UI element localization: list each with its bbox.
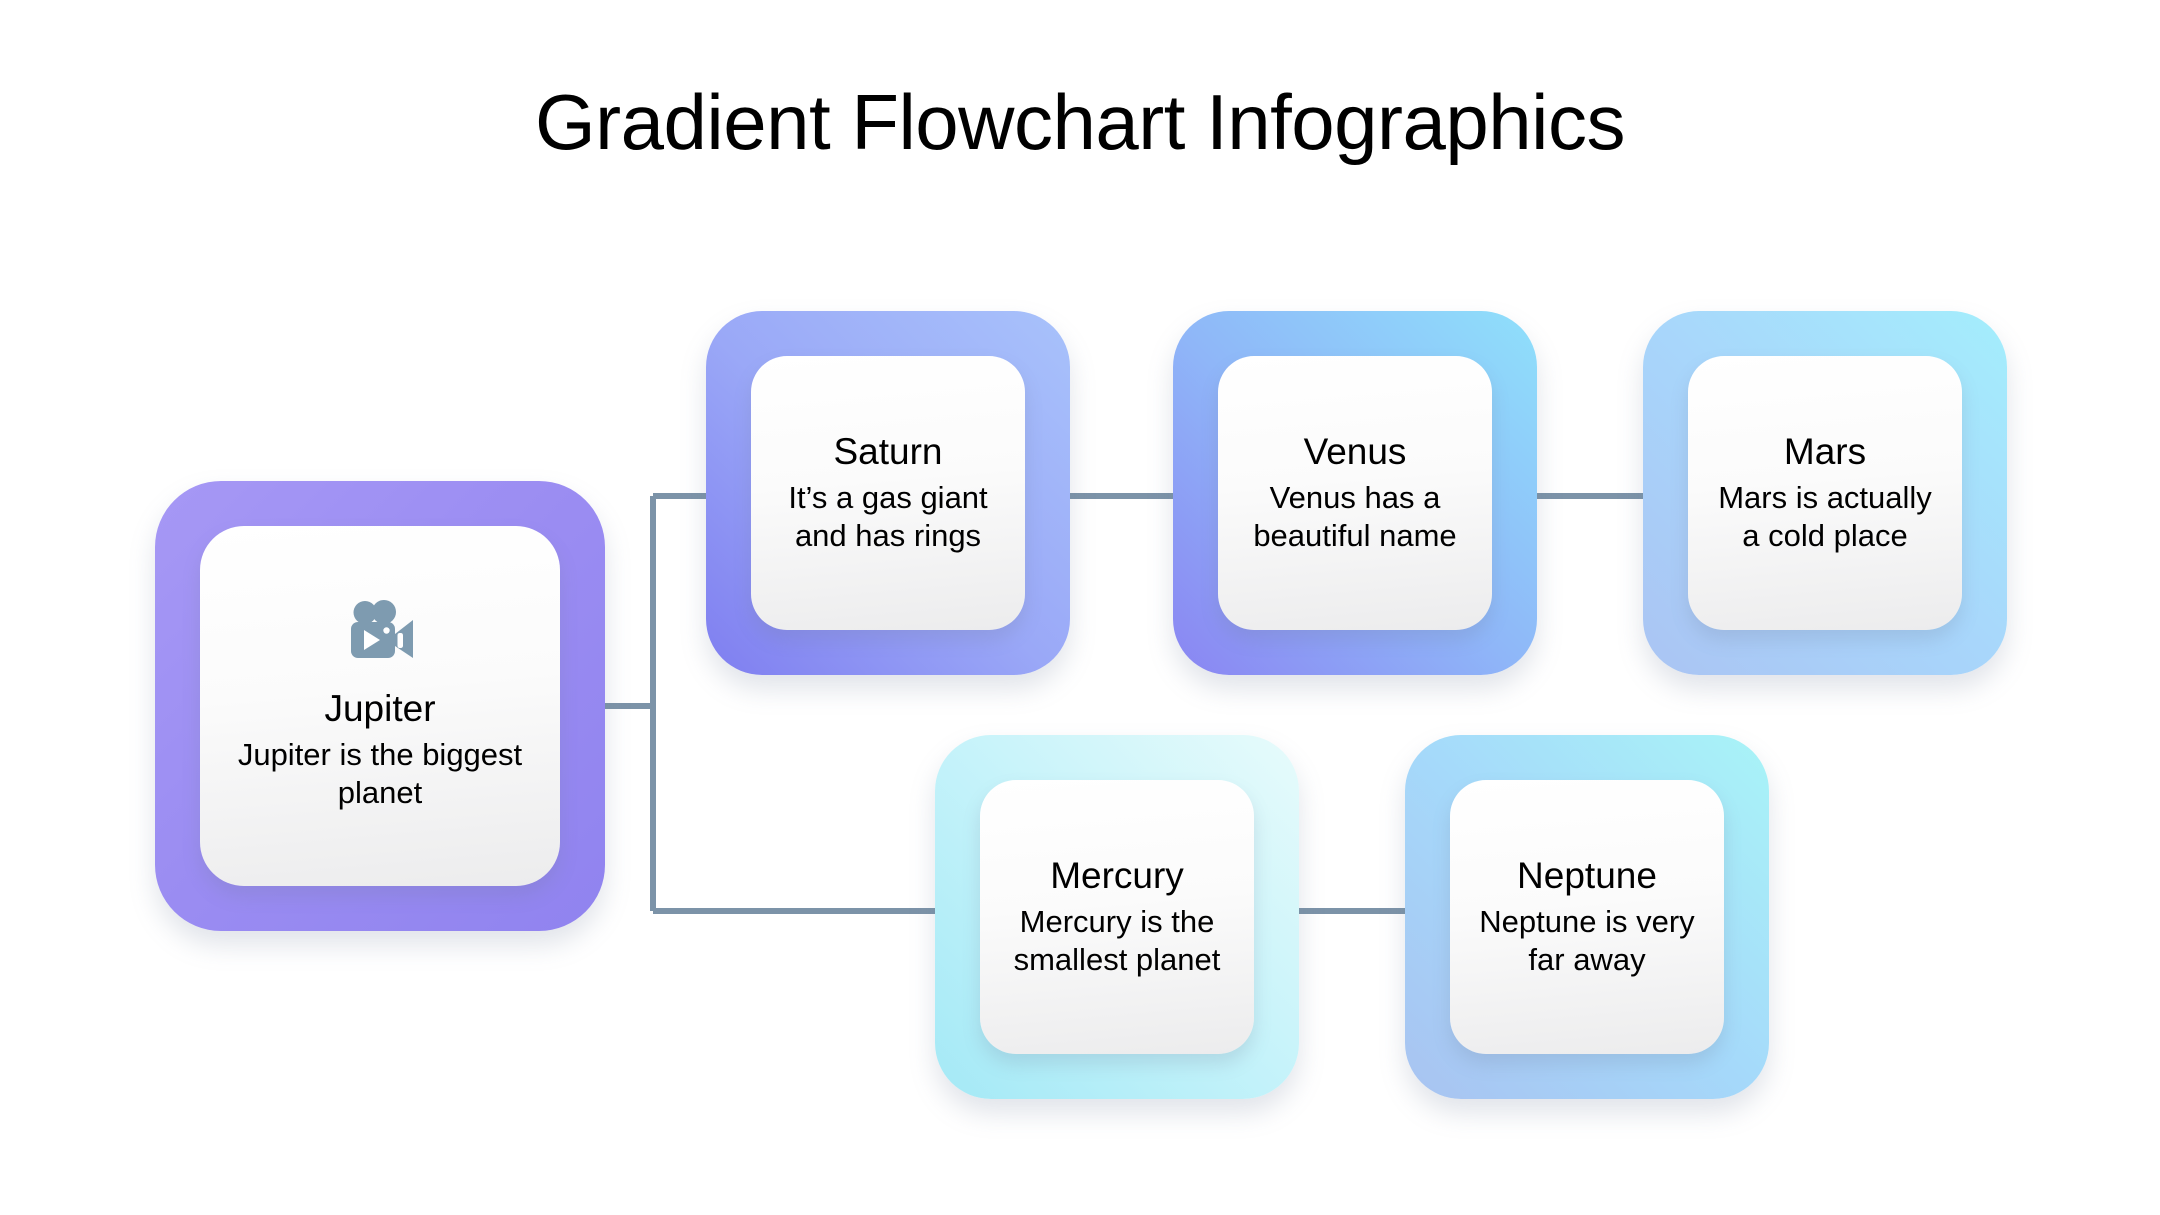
node-venus-desc: Venus has a beautiful name <box>1236 479 1474 555</box>
node-mercury-desc: Mercury is the smallest planet <box>998 903 1236 979</box>
node-mercury-title: Mercury <box>1050 855 1184 896</box>
node-saturn-face: Saturn It’s a gas giant and has rings <box>751 356 1025 630</box>
node-mercury-face: Mercury Mercury is the smallest planet <box>980 780 1254 1054</box>
node-neptune-desc: Neptune is very far away <box>1468 903 1706 979</box>
node-mars-face: Mars Mars is actually a cold place <box>1688 356 1962 630</box>
node-mars-title: Mars <box>1784 431 1866 472</box>
node-mars[interactable]: Mars Mars is actually a cold place <box>1643 311 2007 675</box>
node-jupiter[interactable]: Jupiter Jupiter is the biggest planet <box>155 481 605 931</box>
node-jupiter-desc: Jupiter is the biggest planet <box>218 736 542 812</box>
video-camera-icon <box>345 600 415 662</box>
node-mercury[interactable]: Mercury Mercury is the smallest planet <box>935 735 1299 1099</box>
page-title: Gradient Flowchart Infographics <box>0 82 2160 164</box>
node-venus-face: Venus Venus has a beautiful name <box>1218 356 1492 630</box>
node-neptune-face: Neptune Neptune is very far away <box>1450 780 1724 1054</box>
node-venus-title: Venus <box>1304 431 1407 472</box>
node-jupiter-title: Jupiter <box>324 688 435 729</box>
node-mars-desc: Mars is actually a cold place <box>1706 479 1944 555</box>
node-venus[interactable]: Venus Venus has a beautiful name <box>1173 311 1537 675</box>
node-saturn-title: Saturn <box>833 431 942 472</box>
node-saturn-desc: It’s a gas giant and has rings <box>769 479 1007 555</box>
node-saturn[interactable]: Saturn It’s a gas giant and has rings <box>706 311 1070 675</box>
node-jupiter-face: Jupiter Jupiter is the biggest planet <box>200 526 560 886</box>
node-neptune-title: Neptune <box>1517 855 1657 896</box>
infographic-canvas: Gradient Flowchart Infographics <box>0 0 2160 1215</box>
node-neptune[interactable]: Neptune Neptune is very far away <box>1405 735 1769 1099</box>
